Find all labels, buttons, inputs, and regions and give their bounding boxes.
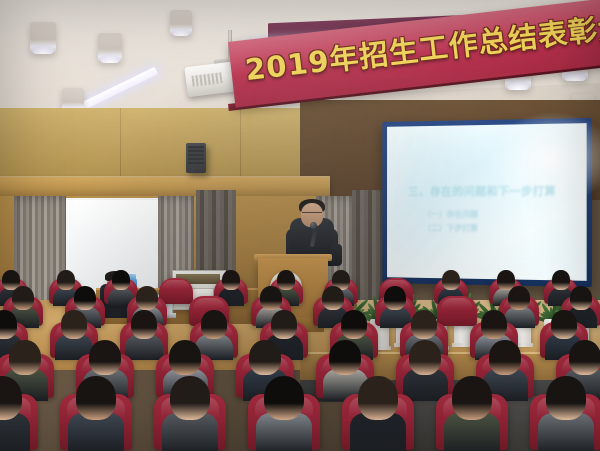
- audience-member-head: [546, 376, 586, 420]
- conference-hall-photo: 2019年招生工作总结表彰大会 三、存在的问题和下一步打算 （一）存在问题 （二…: [0, 0, 600, 451]
- microphone-head-icon: [310, 222, 317, 229]
- slide-item-2-text: （二）下步打算: [423, 223, 478, 234]
- audience-member-head: [452, 376, 492, 420]
- audience-member-head: [329, 340, 361, 375]
- glasses-icon: [302, 212, 322, 217]
- audience-member-head: [409, 340, 441, 375]
- audience-member-head: [222, 270, 240, 290]
- audience-member-head: [57, 270, 75, 290]
- audience-member-head: [411, 310, 437, 339]
- audience-member-head: [76, 376, 116, 420]
- slide-heading-text: 三、存在的问题和下一步打算: [408, 183, 577, 199]
- audience-member-head: [271, 310, 297, 339]
- audience-member-head: [74, 286, 96, 310]
- slide-item-1-text: （一）存在问题: [423, 209, 478, 220]
- audience-member-head: [442, 270, 460, 290]
- audience-member-head: [264, 376, 304, 420]
- audience-member-head: [569, 340, 600, 375]
- audience-member-head: [570, 286, 592, 310]
- audience-member-head: [249, 340, 281, 375]
- audience-member-head: [61, 310, 87, 339]
- audience-member-head: [169, 340, 201, 375]
- audience-member-head: [112, 270, 130, 290]
- audience-member-head: [89, 340, 121, 375]
- audience-member-head: [9, 340, 41, 375]
- projection-screen-surface: 三、存在的问题和下一步打算 （一）存在问题 （二）下步打算: [387, 123, 587, 281]
- audience-member-head: [201, 310, 227, 339]
- audience-member-head: [136, 286, 158, 310]
- wall-trim-beam: [0, 176, 330, 197]
- audience-member-head: [260, 286, 282, 310]
- audience-member-head: [551, 310, 577, 339]
- audience: [0, 270, 600, 451]
- audience-member-head: [277, 270, 295, 290]
- audience-member-head: [481, 310, 507, 339]
- auditorium-chair: [159, 278, 193, 304]
- audience-member-head: [341, 310, 367, 339]
- audience-member-head: [322, 286, 344, 310]
- audience-member-head: [552, 270, 570, 290]
- audience-member-head: [12, 286, 34, 310]
- audience-member-head: [131, 310, 157, 339]
- downlight-icon: [98, 33, 122, 63]
- projection-screen: 三、存在的问题和下一步打算 （一）存在问题 （二）下步打算: [382, 118, 592, 287]
- downlight-icon: [170, 10, 192, 36]
- audience-member-head: [508, 286, 530, 310]
- auditorium-chair: [437, 296, 477, 326]
- audience-member-head: [384, 286, 406, 310]
- audience-member-head: [358, 376, 398, 420]
- audience-member-head: [170, 376, 210, 420]
- audience-member-head: [489, 340, 521, 375]
- downlight-icon: [30, 22, 56, 54]
- wall-speaker-icon: [186, 143, 206, 173]
